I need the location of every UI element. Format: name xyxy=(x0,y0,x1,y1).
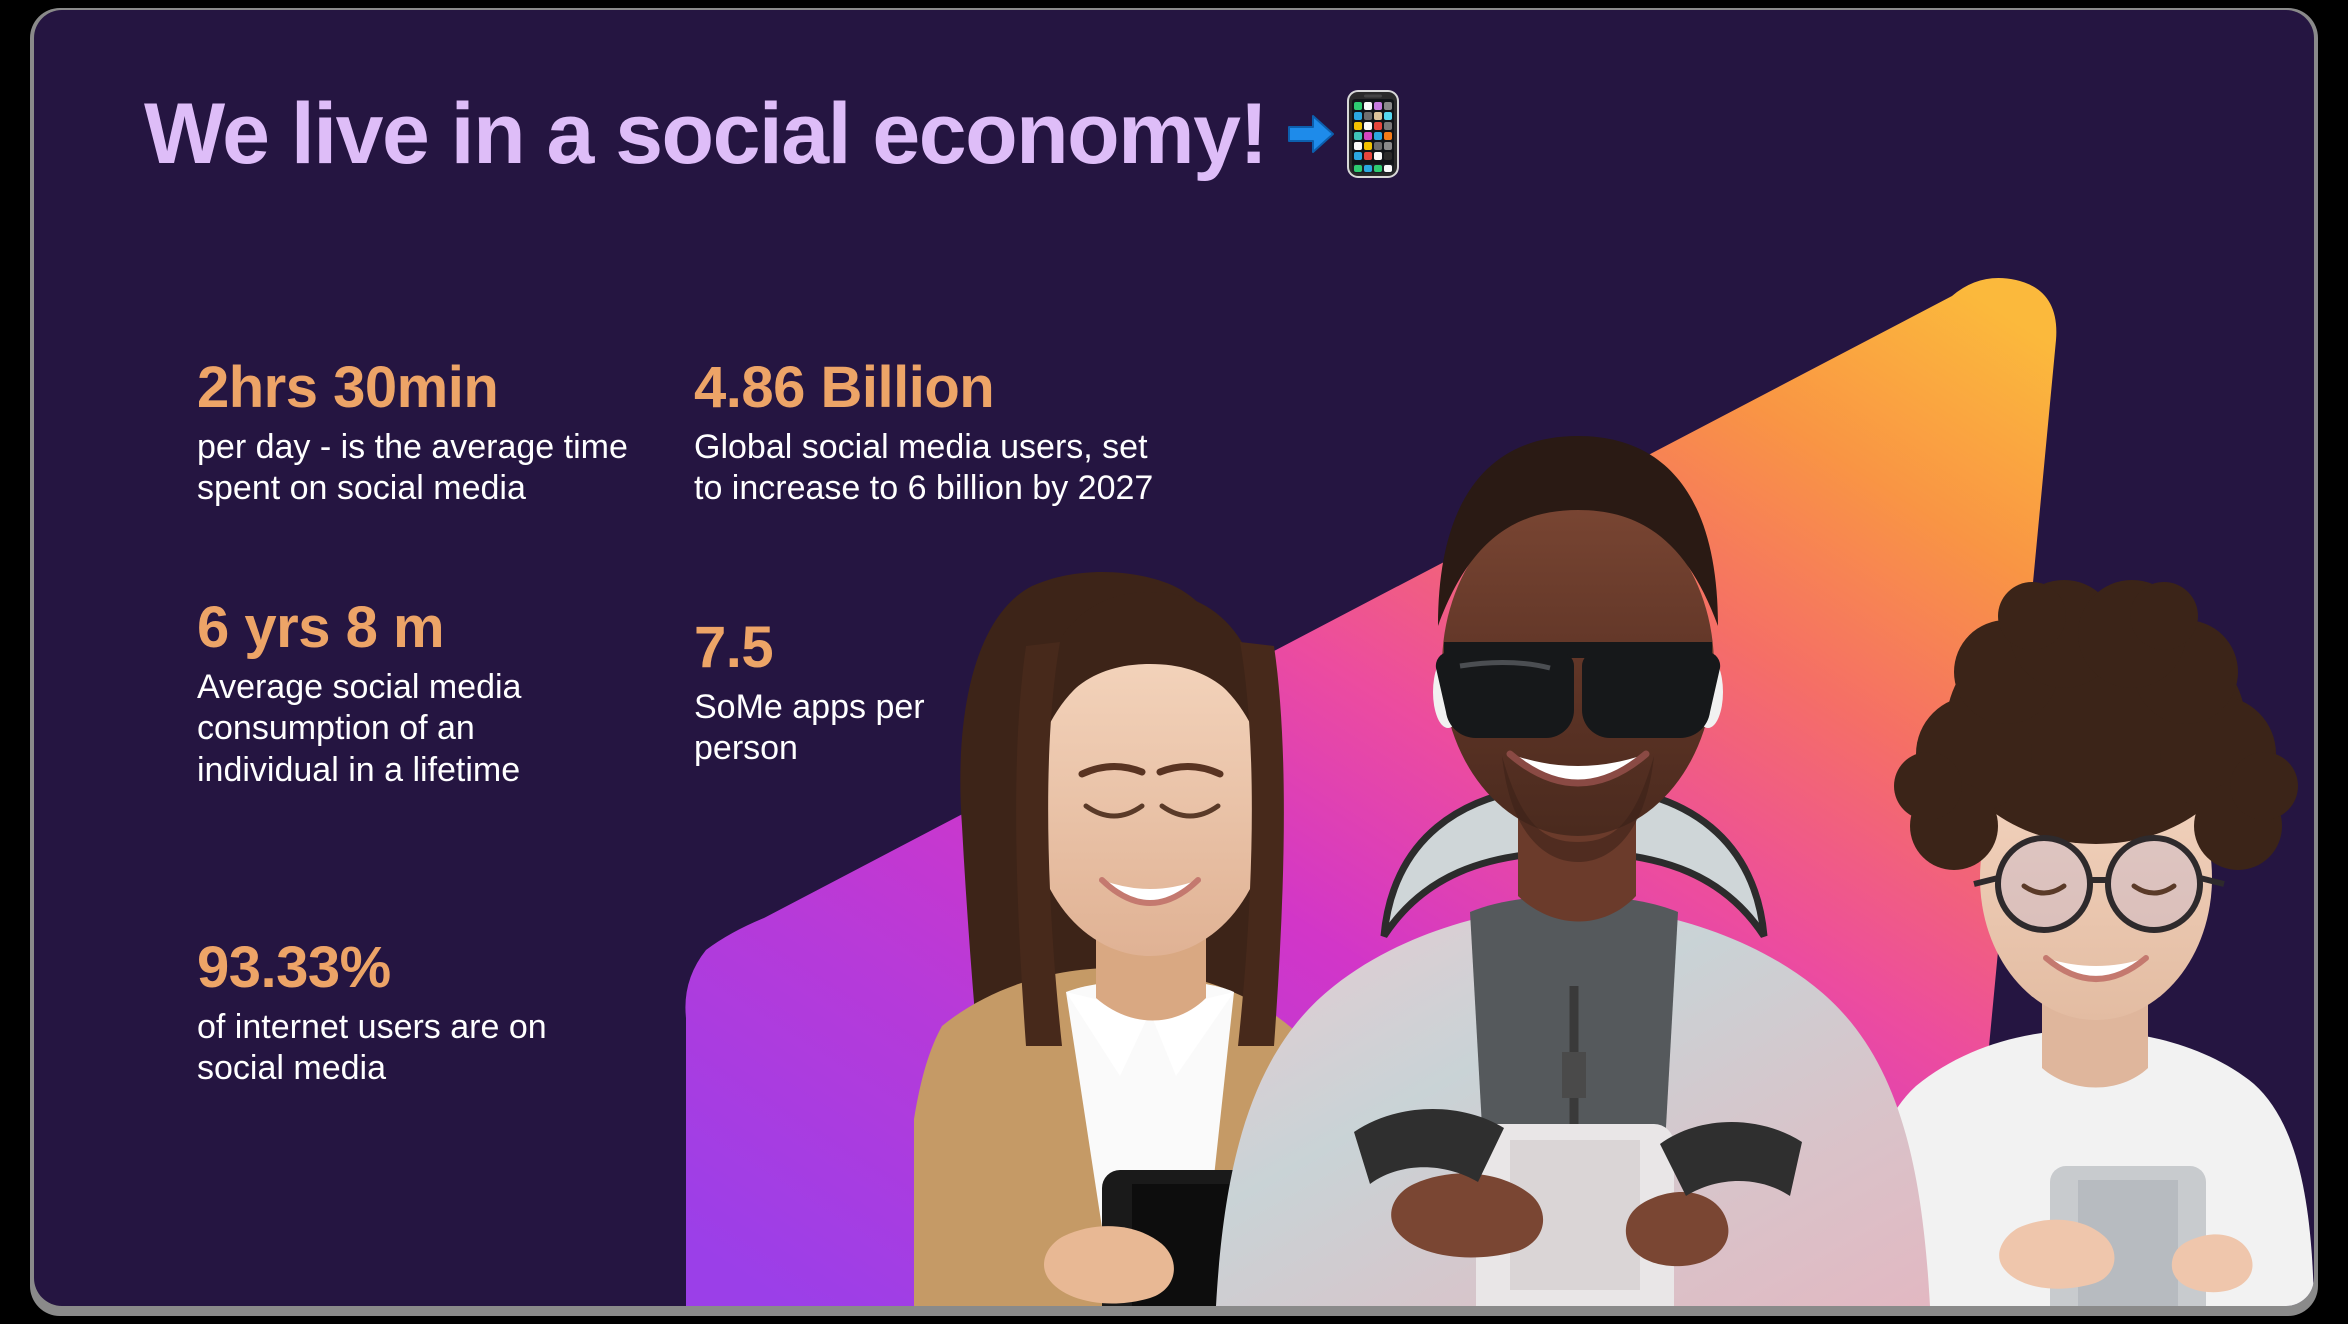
person-center xyxy=(1216,436,1930,1306)
mobile-phone-emoji xyxy=(1343,88,1403,180)
stat-description: SoMe apps per person xyxy=(694,687,1024,770)
stat-avg-daily-time: 2hrs 30min per day - is the average time… xyxy=(197,358,667,510)
stat-apps-per-person: 7.5 SoMe apps per person xyxy=(694,618,1024,770)
title-emoji-group xyxy=(1285,88,1403,180)
statistics-group: 2hrs 30min per day - is the average time… xyxy=(34,10,1134,1306)
stat-value: 6 yrs 8 m xyxy=(197,598,577,659)
stat-global-users: 4.86 Billion Global social media users, … xyxy=(694,358,1164,510)
stat-internet-users-share: 93.33% of internet users are on social m… xyxy=(197,938,627,1090)
stat-description: Global social media users, set to increa… xyxy=(694,427,1164,510)
stat-value: 7.5 xyxy=(694,618,1024,679)
slide-frame: We live in a social economy! xyxy=(0,0,2348,1324)
stat-value: 2hrs 30min xyxy=(197,358,667,419)
stat-lifetime-consumption: 6 yrs 8 m Average social media consumpti… xyxy=(197,598,577,791)
stat-value: 4.86 Billion xyxy=(694,358,1164,419)
stat-description: of internet users are on social media xyxy=(197,1007,627,1090)
slide-title-row: We live in a social economy! xyxy=(144,88,1403,180)
page-title: We live in a social economy! xyxy=(144,89,1267,179)
stat-description: per day - is the average time spent on s… xyxy=(197,427,667,510)
right-arrow-emoji xyxy=(1285,107,1339,161)
person-right xyxy=(1850,580,2314,1306)
stat-value: 93.33% xyxy=(197,938,627,999)
slide-canvas: We live in a social economy! xyxy=(34,10,2314,1306)
stat-description: Average social media consumption of an i… xyxy=(197,667,577,791)
